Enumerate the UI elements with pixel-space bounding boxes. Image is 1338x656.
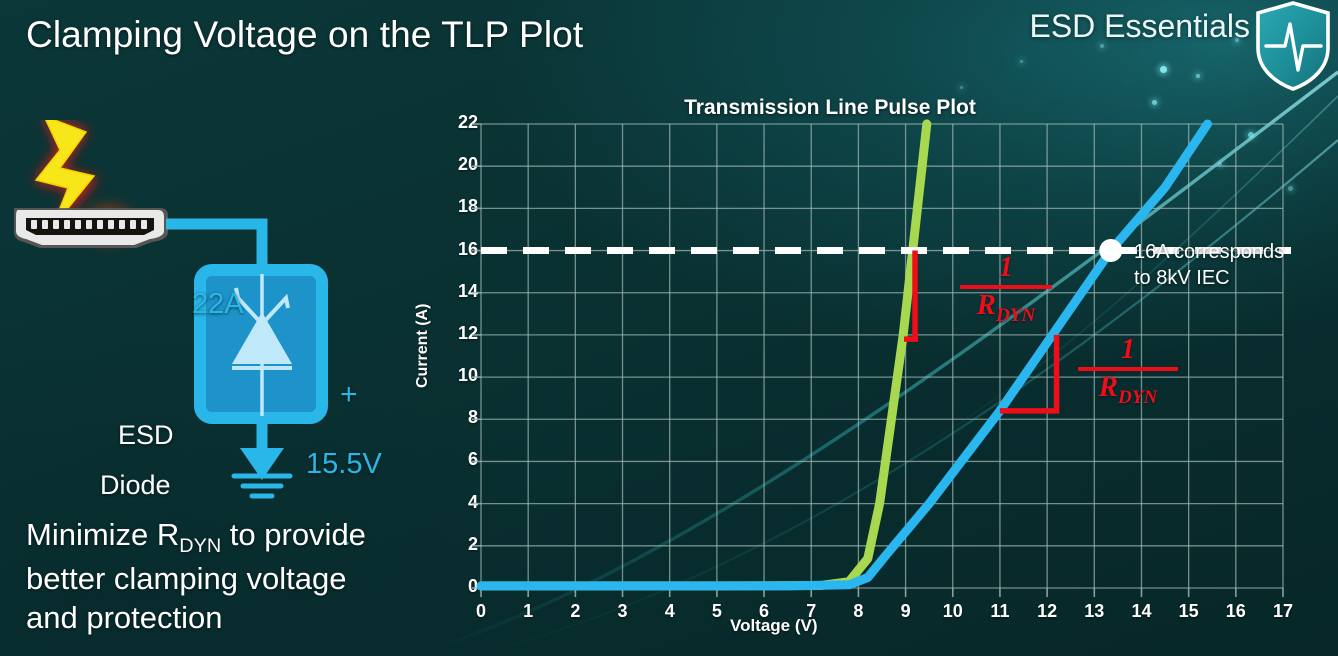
fraction-numerator: 1 <box>1078 336 1178 364</box>
diode-label-line1: ESD <box>118 420 174 451</box>
fraction-bar <box>960 285 1052 289</box>
particle-dot <box>1020 60 1023 63</box>
caption-line1-subscript: DYN <box>179 535 221 557</box>
brand-name: ESD Essentials <box>1029 8 1250 45</box>
annotation-line2: to 8kV IEC <box>1134 267 1230 289</box>
takeaway-caption: Minimize RDYN to provide better clamping… <box>26 515 446 637</box>
fraction-denominator: RDYN <box>1078 372 1178 408</box>
caption-line3: and protection <box>26 600 222 635</box>
fraction-denominator: RDYN <box>960 290 1052 326</box>
chart-plot-area <box>420 88 1338 656</box>
hdmi-connector-icon <box>14 208 168 248</box>
page-title: Clamping Voltage on the TLP Plot <box>26 14 583 56</box>
denominator-base: R <box>1099 371 1118 403</box>
polarity-plus-label: + <box>340 378 358 412</box>
circuit-wiring <box>166 224 262 270</box>
denominator-subscript: DYN <box>1118 387 1157 408</box>
slope-fraction-steep: 1 RDYN <box>960 254 1052 326</box>
ground-path <box>240 418 284 480</box>
caption-line2: better clamping voltage <box>26 561 347 596</box>
diode-label-line2: Diode <box>100 470 171 501</box>
series-line <box>481 124 927 586</box>
operating-point-marker <box>1099 239 1122 262</box>
caption-line1-pre: Minimize R <box>26 517 179 552</box>
current-label: 22A <box>192 288 244 321</box>
operating-point-annotation: 16A corresponds to 8kV IEC <box>1134 240 1284 291</box>
slope-fraction-shallow: 1 RDYN <box>1078 336 1178 408</box>
slide-canvas: Clamping Voltage on the TLP Plot ESD Ess… <box>0 0 1338 656</box>
esd-circuit-diagram: ESD Diode 22A 15.5V + - <box>0 120 440 510</box>
denominator-subscript: DYN <box>996 305 1035 326</box>
chart-data-markers <box>1099 239 1122 262</box>
particle-dot <box>1160 66 1167 73</box>
fraction-bar <box>1078 367 1178 371</box>
particle-dot <box>1196 74 1200 78</box>
voltage-label: 15.5V <box>306 448 382 481</box>
caption-line1-post: to provide <box>221 517 366 552</box>
shield-pulse-icon <box>1252 0 1334 92</box>
fraction-numerator: 1 <box>960 254 1052 282</box>
denominator-base: R <box>977 289 996 321</box>
tlp-chart: Transmission Line Pulse Plot Current (A)… <box>420 88 1338 656</box>
annotation-line1: 16A corresponds <box>1134 241 1284 263</box>
